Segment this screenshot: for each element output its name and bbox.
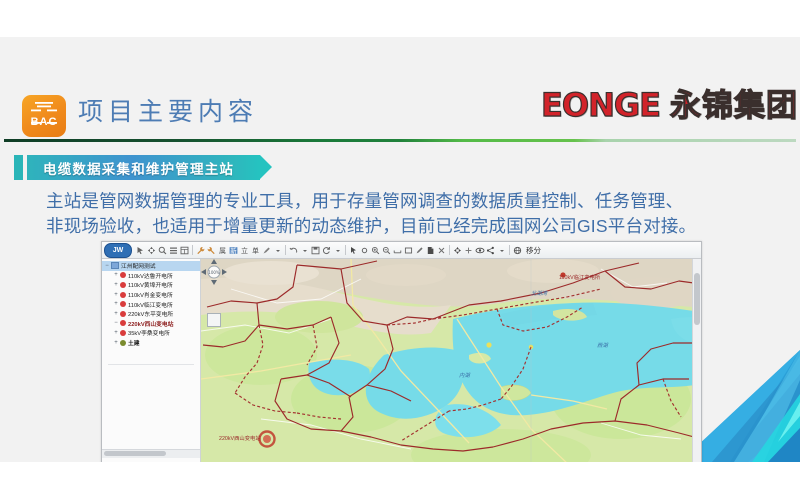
expand-icon[interactable]: + <box>113 340 119 346</box>
slide-header: BAC 项目主要内容 EONGE 永锦集团 <box>0 37 800 103</box>
save-icon[interactable] <box>310 244 321 257</box>
table-icon[interactable] <box>179 244 190 257</box>
wrench-alt-icon[interactable] <box>206 244 217 257</box>
refresh-icon[interactable] <box>321 244 332 257</box>
align-icon[interactable]: 立 <box>239 244 250 257</box>
measure-icon[interactable]: 属 <box>217 244 228 257</box>
svg-text:属: 属 <box>219 247 226 255</box>
scrollbar-thumb[interactable] <box>104 451 166 456</box>
map-label-water: 北湖湾 <box>531 289 547 297</box>
map-navigation-pad[interactable]: 100% <box>201 259 227 285</box>
undo-icon[interactable] <box>288 244 299 257</box>
layer-marker-icon <box>120 320 126 326</box>
globe-icon[interactable] <box>512 244 523 257</box>
layer-tree-item-label: 110kV临江变电所 <box>128 300 173 309</box>
svg-text:100%: 100% <box>208 270 220 275</box>
layer-tree-root-label: 江州配网测试 <box>121 261 156 270</box>
list-icon[interactable] <box>168 244 179 257</box>
svg-text:单: 单 <box>252 246 259 255</box>
cursor-icon[interactable] <box>135 244 146 257</box>
brand-logo: EONGE 永锦集团 <box>541 89 798 121</box>
layer-marker-icon <box>120 272 126 278</box>
close-icon[interactable] <box>436 244 447 257</box>
toolbar-separator <box>449 245 450 255</box>
move-icon[interactable] <box>452 244 463 257</box>
layer-tree-item-label: 35kV李桑变电所 <box>128 329 170 338</box>
toolbar-end-label: 移分 <box>526 245 541 256</box>
layer-tree-item-label: 土建 <box>128 338 140 347</box>
chevron-down-icon[interactable] <box>496 244 507 257</box>
gis-app-body: − 江州配网测试 + 110kV达鲁开电所 + 110kV黄埠开电所 <box>102 259 701 462</box>
layer-icon[interactable]: 单 <box>250 244 261 257</box>
svg-text:新: 新 <box>230 246 237 255</box>
paragraph-line-1: 主站是管网数据管理的专业工具，用于存量管网调查的数据质量控制、任务管理、 <box>46 189 788 214</box>
layer-tree-item-label: 220kV东平变电所 <box>128 309 173 318</box>
toolbar-separator <box>285 245 286 255</box>
map-graphic <box>201 259 692 462</box>
layer-marker-icon <box>120 340 126 346</box>
extent-icon[interactable] <box>392 244 403 257</box>
layer-tree-item-label: 110kV肖金变电所 <box>128 290 173 299</box>
expand-icon[interactable]: − <box>113 320 119 326</box>
layer-marker-icon <box>120 292 126 298</box>
chevron-down-icon[interactable] <box>272 244 283 257</box>
layer-marker-icon <box>120 311 126 317</box>
layer-tree-item[interactable]: + 110kV黄埠开电所 <box>102 280 200 290</box>
zoom-icon[interactable] <box>157 244 168 257</box>
paragraph-line-2: 非现场验收，也适用于增量更新的动态维护，目前已经完成国网公司GIS平台对接。 <box>46 214 788 239</box>
zoom-out-icon[interactable] <box>381 244 392 257</box>
layer-tree-item[interactable]: + 220kV东平变电所 <box>102 309 200 319</box>
tree-divider <box>108 364 194 365</box>
eye-icon[interactable] <box>474 244 485 257</box>
new-icon[interactable]: 新 <box>228 244 239 257</box>
zoom-in-icon[interactable] <box>370 244 381 257</box>
scrollbar-thumb[interactable] <box>694 273 700 325</box>
gis-app-logo: JW <box>104 243 132 258</box>
layer-tree-item[interactable]: + 土建 <box>102 338 200 348</box>
tree-horizontal-scrollbar[interactable] <box>102 449 200 458</box>
layer-marker-icon <box>120 330 126 336</box>
slide: BAC 项目主要内容 EONGE 永锦集团 电缆数据采集和维护管理主站 主站是管… <box>0 0 800 499</box>
chevron-down-icon[interactable] <box>299 244 310 257</box>
toolbar-separator <box>192 245 193 255</box>
toolbar-separator <box>345 245 346 255</box>
layer-tree-item-label: 220kV西山变电站 <box>128 319 173 328</box>
layer-tree-item[interactable]: + 35kV李桑变电所 <box>102 328 200 338</box>
layer-tree-item[interactable]: + 110kV临江变电所 <box>102 299 200 309</box>
expand-icon[interactable]: + <box>113 272 119 278</box>
toolbar-separator <box>509 245 510 255</box>
brand-name-en: EONGE <box>541 89 660 121</box>
expand-icon[interactable]: + <box>113 292 119 298</box>
header-divider <box>4 139 796 142</box>
map-canvas[interactable]: 100% 220kV西山变电站 110kV临江变电所 西湖 内湖 北湖湾 <box>201 259 692 462</box>
wrench-icon[interactable] <box>195 244 206 257</box>
map-label-substation: 220kV西山变电站 <box>219 434 261 442</box>
rect-select-icon[interactable] <box>403 244 414 257</box>
layer-tree-item[interactable]: + 110kV达鲁开电所 <box>102 271 200 281</box>
map-vertical-scrollbar[interactable] <box>692 259 701 462</box>
page-icon[interactable] <box>425 244 436 257</box>
map-zoom-box-button[interactable] <box>207 313 221 327</box>
gis-application-screenshot: JW 属 新 立 单 <box>101 241 702 462</box>
body-paragraph: 主站是管网数据管理的专业工具，用于存量管网调查的数据质量控制、任务管理、 非现场… <box>46 189 788 239</box>
banner-accent-tab <box>14 155 23 180</box>
banner-body: 电缆数据采集和维护管理主站 <box>27 155 260 180</box>
logo-badge: BAC <box>22 95 66 137</box>
expand-icon[interactable]: + <box>113 311 119 317</box>
layer-marker-icon <box>120 301 126 307</box>
map-label-substation: 110kV临江变电所 <box>559 273 600 281</box>
edit-icon[interactable] <box>414 244 425 257</box>
expand-icon[interactable]: + <box>113 282 119 288</box>
slide-canvas: BAC 项目主要内容 EONGE 永锦集团 电缆数据采集和维护管理主站 主站是管… <box>0 37 800 462</box>
layer-tree-item-selected[interactable]: − 220kV西山变电站 <box>102 319 200 329</box>
layer-tree-item[interactable]: + 110kV肖金变电所 <box>102 290 200 300</box>
layer-tree-root[interactable]: − 江州配网测试 <box>102 261 200 271</box>
page-title: 项目主要内容 <box>78 92 258 128</box>
brand-name-cn: 永锦集团 <box>670 90 798 121</box>
map-label-water: 西湖 <box>597 341 608 349</box>
gis-toolbar[interactable]: JW 属 新 立 单 <box>102 242 701 259</box>
layer-tree-item-label: 110kV黄埠开电所 <box>128 281 173 290</box>
expand-icon[interactable]: + <box>113 330 119 336</box>
add-icon[interactable] <box>463 244 474 257</box>
section-banner: 电缆数据采集和维护管理主站 <box>14 155 260 180</box>
banner-title: 电缆数据采集和维护管理主站 <box>43 158 234 178</box>
chevron-down-icon[interactable] <box>332 244 343 257</box>
svg-text:立: 立 <box>241 246 248 255</box>
layer-tree-item-label: 110kV达鲁开电所 <box>128 271 173 280</box>
expand-icon[interactable]: + <box>113 301 119 307</box>
layer-tree-panel[interactable]: − 江州配网测试 + 110kV达鲁开电所 + 110kV黄埠开电所 <box>102 259 201 462</box>
brush-icon[interactable] <box>261 244 272 257</box>
folder-icon <box>111 262 119 269</box>
map-label-water: 内湖 <box>459 371 470 379</box>
node-icon[interactable] <box>359 244 370 257</box>
share-icon[interactable] <box>485 244 496 257</box>
pan-icon[interactable] <box>146 244 157 257</box>
logo-badge-text: BAC <box>22 116 66 128</box>
collapse-icon[interactable]: − <box>104 263 110 269</box>
pointer-icon[interactable] <box>348 244 359 257</box>
layer-marker-icon <box>120 282 126 288</box>
